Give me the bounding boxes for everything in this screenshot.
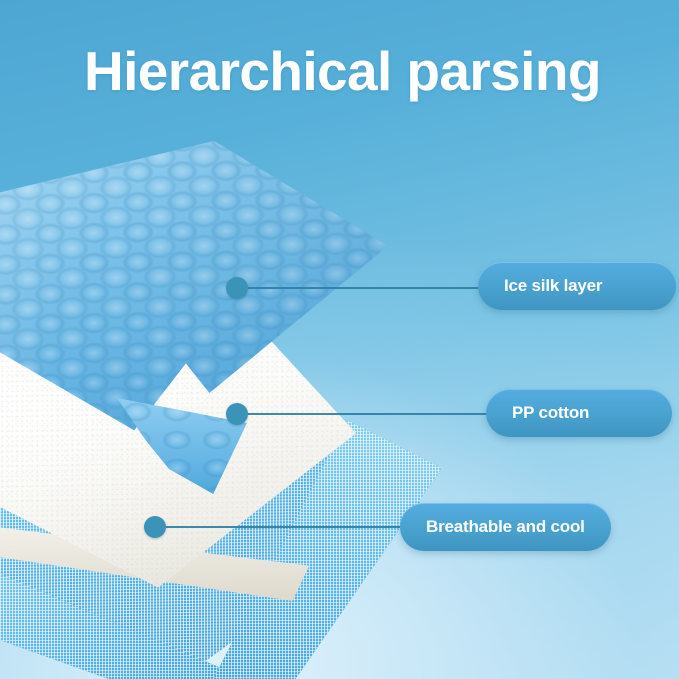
connector-line-breathable-mesh: [166, 526, 406, 528]
label-pill-breathable-mesh[interactable]: Breathable and cool: [400, 503, 611, 551]
connector-line-pp-cotton: [248, 413, 492, 415]
label-pill-ice-silk[interactable]: Ice silk layer: [478, 262, 676, 310]
connector-dot-breathable-mesh: [144, 516, 166, 538]
label-pill-pp-cotton[interactable]: PP cotton: [486, 389, 672, 437]
connector-dot-pp-cotton: [226, 403, 248, 425]
label-text-ice-silk: Ice silk layer: [504, 276, 602, 296]
infographic-canvas: Hierarchical parsing Ice silk layer PP c…: [0, 0, 679, 679]
connector-dot-ice-silk: [226, 277, 248, 299]
label-text-pp-cotton: PP cotton: [512, 403, 589, 423]
label-text-breathable-mesh: Breathable and cool: [426, 517, 585, 537]
ice-silk-sheet: [0, 138, 388, 446]
page-title: Hierarchical parsing: [84, 41, 624, 103]
connector-line-ice-silk: [248, 287, 486, 289]
